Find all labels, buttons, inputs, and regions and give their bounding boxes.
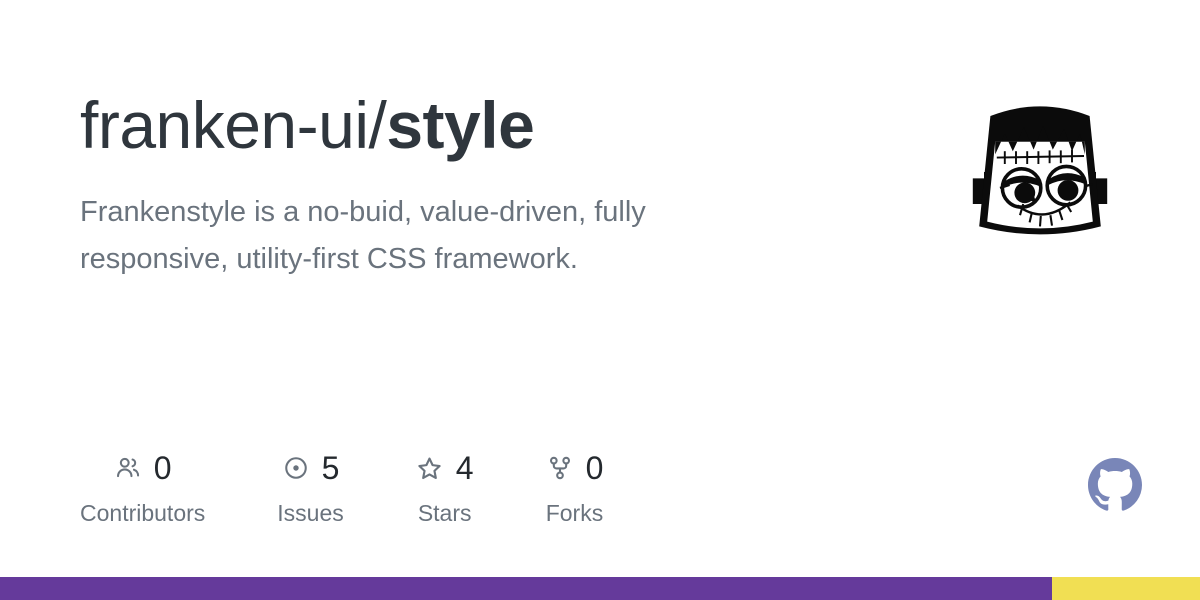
page-title: franken-ui/style (80, 90, 760, 161)
stat-contributors-label: Contributors (80, 502, 205, 525)
repo-separator: / (369, 88, 387, 162)
repo-owner: franken-ui (80, 88, 369, 162)
github-social-preview-card: franken-ui/style Frankenstyle is a no-bu… (0, 0, 1200, 600)
stat-contributors-top: 0 (114, 448, 172, 488)
stat-forks-top: 0 (546, 448, 604, 488)
language-segment-purple (0, 577, 1052, 600)
stat-stars-label: Stars (418, 502, 472, 525)
people-icon (114, 454, 142, 482)
stat-contributors: 0 Contributors (80, 448, 205, 525)
card-header: franken-ui/style Frankenstyle is a no-bu… (80, 88, 1120, 283)
stat-stars: 4 Stars (416, 448, 474, 525)
stat-contributors-value: 0 (154, 452, 172, 484)
language-bar (0, 577, 1200, 600)
stat-stars-top: 4 (416, 448, 474, 488)
stat-stars-value: 4 (456, 452, 474, 484)
repo-name: style (386, 88, 534, 162)
repo-forked-icon (546, 454, 574, 482)
stat-issues: 5 Issues (277, 448, 343, 525)
stat-issues-value: 5 (322, 452, 340, 484)
stat-forks-value: 0 (586, 452, 604, 484)
stat-forks: 0 Forks (546, 448, 604, 525)
repo-description: Frankenstyle is a no-buid, value-driven,… (80, 189, 760, 283)
stat-issues-label: Issues (277, 502, 343, 525)
language-segment-yellow (1052, 577, 1200, 600)
stat-issues-top: 5 (282, 448, 340, 488)
issue-opened-icon (282, 454, 310, 482)
frankenstein-avatar (960, 92, 1120, 252)
stat-forks-label: Forks (546, 502, 604, 525)
github-mark-icon (1088, 458, 1142, 512)
repo-stats: 0 Contributors 5 Issues (80, 448, 603, 525)
repo-text-block: franken-ui/style Frankenstyle is a no-bu… (80, 88, 760, 283)
star-icon (416, 454, 444, 482)
